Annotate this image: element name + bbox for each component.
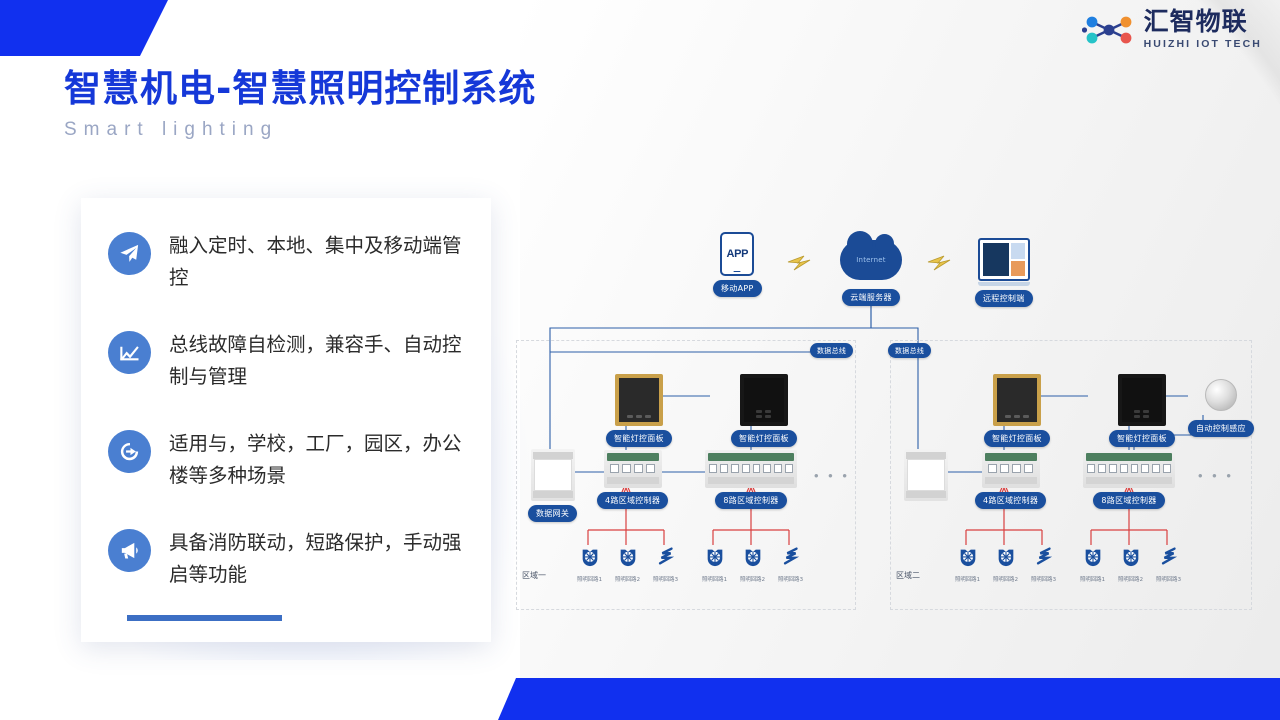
ceiling-light-icon <box>742 545 764 572</box>
feature-text-2: 适用与，学校，工厂，园区，办公楼等多种场景 <box>169 428 468 492</box>
send-paper-plane-icon <box>108 232 151 275</box>
smartphone-app-icon: APP <box>720 232 754 276</box>
controller-label-4ch-zone-2: 4路区域控制器 <box>975 492 1046 509</box>
feature-item-0: 融入定时、本地、集中及移动端管控 <box>108 230 468 294</box>
node-controller-4ch-zone-1[interactable]: 4路区域控制器 <box>597 450 668 509</box>
card-underline-accent <box>127 615 282 621</box>
strip-light-icon <box>780 545 802 572</box>
laptop-remote-icon <box>978 238 1030 286</box>
node-gateway-zone-1[interactable]: 数据网关 <box>528 449 577 522</box>
feature-item-2: 适用与，学校，工厂，园区，办公楼等多种场景 <box>108 428 468 492</box>
node-controller-8ch-zone-1[interactable]: 8路区域控制器 <box>705 450 797 509</box>
circuit-label-z1-2: 照明回路3 <box>653 575 678 583</box>
gateway-label-zone-1: 数据网关 <box>528 505 577 522</box>
feature-text-0: 融入定时、本地、集中及移动端管控 <box>169 230 468 294</box>
brand-name-cn: 汇智物联 <box>1144 10 1262 35</box>
node-panel-gold-zone-1[interactable]: 智能灯控面板 <box>606 374 672 447</box>
cloud-server-label: 云端服务器 <box>842 289 900 306</box>
controller-label-8ch-zone-2: 8路区域控制器 <box>1093 492 1164 509</box>
node-cloud-server[interactable]: Internet 云端服务器 <box>840 240 902 306</box>
din-rail-controller-4ch-icon <box>982 450 1040 488</box>
controller-label-4ch-zone-1: 4路区域控制器 <box>597 492 668 509</box>
node-remote-terminal[interactable]: 远程控制端 <box>975 238 1033 307</box>
wall-switch-panel-gold-icon <box>993 374 1041 426</box>
circuit-label-z2-4: 照明回路2 <box>1118 575 1143 583</box>
circuit-z2-4[interactable]: 照明回路2 <box>1118 545 1143 583</box>
circuit-z2-5[interactable]: 照明回路3 <box>1156 545 1181 583</box>
strip-light-icon <box>1033 545 1055 572</box>
system-architecture-diagram: 区域一 区域二 APP 移动APP Internet 云端服务器 远程控制端 数… <box>498 200 1280 630</box>
ceiling-light-icon <box>957 545 979 572</box>
circuit-label-z2-2: 照明回路3 <box>1031 575 1056 583</box>
node-panel-gold-zone-2[interactable]: 智能灯控面板 <box>984 374 1050 447</box>
chart-line-icon <box>108 331 151 374</box>
circuit-z2-2[interactable]: 照明回路3 <box>1031 545 1056 583</box>
ceiling-light-icon <box>579 545 601 572</box>
panel-label-1-zone-1: 智能灯控面板 <box>606 430 672 447</box>
circuit-label-z2-3: 照明回路1 <box>1080 575 1105 583</box>
ceiling-light-icon <box>1120 545 1142 572</box>
motion-sensor-icon <box>1205 379 1237 411</box>
node-controller-4ch-zone-2[interactable]: 4路区域控制器 <box>975 450 1046 509</box>
circuit-label-z1-3: 照明回路1 <box>702 575 727 583</box>
remote-terminal-label: 远程控制端 <box>975 290 1033 307</box>
node-mobile-app[interactable]: APP 移动APP <box>713 232 762 297</box>
zone-2-label: 区域二 <box>896 570 920 581</box>
page-heading: 智慧机电-智慧照明控制系统 Smart lighting <box>64 68 536 141</box>
zone-1-label: 区域一 <box>522 570 546 581</box>
ceiling-light-icon <box>995 545 1017 572</box>
ceiling-light-icon <box>704 545 726 572</box>
circuit-z1-3[interactable]: 照明回路1 <box>702 545 727 583</box>
mobile-app-label: 移动APP <box>713 280 762 297</box>
feature-card: 融入定时、本地、集中及移动端管控 总线故障自检测，兼容手、自动控制与管理 适用与… <box>81 198 491 642</box>
node-panel-black-zone-2[interactable]: 智能灯控面板 <box>1109 374 1175 447</box>
feature-text-1: 总线故障自检测，兼容手、自动控制与管理 <box>169 329 468 393</box>
circuit-label-z1-0: 照明回路1 <box>577 575 602 583</box>
strip-light-icon <box>655 545 677 572</box>
corner-accent-bottom-right <box>498 678 1280 720</box>
panel-label-2-zone-2: 智能灯控面板 <box>1109 430 1175 447</box>
circuit-z2-3[interactable]: 照明回路1 <box>1080 545 1105 583</box>
node-controller-8ch-zone-2[interactable]: 8路区域控制器 <box>1083 450 1175 509</box>
wall-switch-panel-gold-icon <box>615 374 663 426</box>
data-gateway-icon <box>904 449 948 501</box>
circuit-z1-0[interactable]: 照明回路1 <box>577 545 602 583</box>
ceiling-light-icon <box>1082 545 1104 572</box>
ellipsis-zone-2: • • • <box>1198 468 1234 483</box>
feature-item-3: 具备消防联动，短路保护，手动强启等功能 <box>108 527 468 591</box>
molecule-network-icon <box>1082 10 1136 50</box>
brand-logo: 汇智物联 HUIZHI IOT TECH <box>1082 10 1262 50</box>
megaphone-icon <box>108 529 151 572</box>
ellipsis-zone-1: • • • <box>814 468 850 483</box>
wall-switch-panel-black-icon <box>1118 374 1166 426</box>
page-subtitle: Smart lighting <box>64 119 536 141</box>
circuit-label-z1-5: 照明回路3 <box>778 575 803 583</box>
node-motion-sensor[interactable]: 自动控制感应 <box>1188 379 1254 437</box>
circuit-label-z1-4: 照明回路2 <box>740 575 765 583</box>
cloud-text: Internet <box>856 256 885 264</box>
circuit-label-z1-1: 照明回路2 <box>615 575 640 583</box>
node-panel-black-zone-1[interactable]: 智能灯控面板 <box>731 374 797 447</box>
strip-light-icon <box>1158 545 1180 572</box>
din-rail-controller-8ch-icon <box>1083 450 1175 488</box>
bus-label-zone-2: 数据总线 <box>888 343 931 358</box>
corner-accent-top-left <box>0 0 168 56</box>
din-rail-controller-4ch-icon <box>604 450 662 488</box>
sensor-label: 自动控制感应 <box>1188 420 1254 437</box>
page-title: 智慧机电-智慧照明控制系统 <box>64 68 536 111</box>
exit-arrow-icon <box>108 430 151 473</box>
circuit-label-z2-1: 照明回路2 <box>993 575 1018 583</box>
cloud-server-icon: Internet <box>840 240 902 280</box>
circuit-z2-0[interactable]: 照明回路1 <box>955 545 980 583</box>
node-gateway-zone-2[interactable] <box>904 449 948 501</box>
brand-name-en: HUIZHI IOT TECH <box>1144 39 1262 50</box>
controller-label-8ch-zone-1: 8路区域控制器 <box>715 492 786 509</box>
wall-switch-panel-black-icon <box>740 374 788 426</box>
circuit-z1-1[interactable]: 照明回路2 <box>615 545 640 583</box>
circuit-label-z2-5: 照明回路3 <box>1156 575 1181 583</box>
bus-label-zone-1: 数据总线 <box>810 343 853 358</box>
circuit-label-z2-0: 照明回路1 <box>955 575 980 583</box>
ceiling-light-icon <box>617 545 639 572</box>
circuit-z1-2[interactable]: 照明回路3 <box>653 545 678 583</box>
panel-label-2-zone-1: 智能灯控面板 <box>731 430 797 447</box>
panel-label-1-zone-2: 智能灯控面板 <box>984 430 1050 447</box>
circuit-z1-4[interactable]: 照明回路2 <box>740 545 765 583</box>
feature-item-1: 总线故障自检测，兼容手、自动控制与管理 <box>108 329 468 393</box>
app-text: APP <box>726 248 748 260</box>
circuit-z2-1[interactable]: 照明回路2 <box>993 545 1018 583</box>
din-rail-controller-8ch-icon <box>705 450 797 488</box>
circuit-z1-5[interactable]: 照明回路3 <box>778 545 803 583</box>
feature-text-3: 具备消防联动，短路保护，手动强启等功能 <box>169 527 468 591</box>
data-gateway-icon <box>531 449 575 501</box>
